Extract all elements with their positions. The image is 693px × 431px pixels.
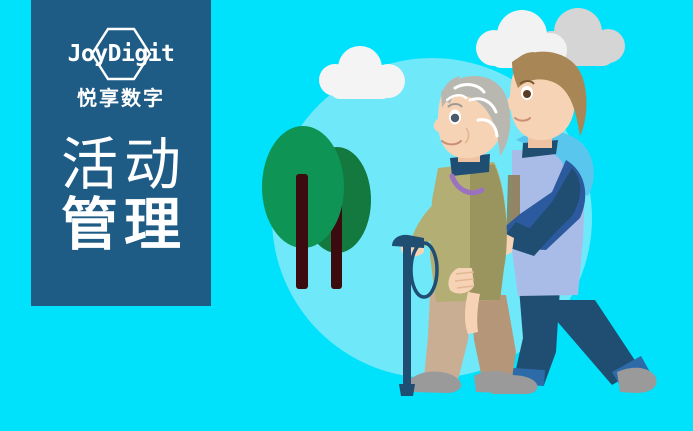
brand-wordmark: JoyDigit [68, 43, 175, 66]
woman-eye-pupil [451, 114, 459, 122]
man-eye-pupil [523, 90, 531, 98]
page-title: 活动 管理 [55, 135, 187, 256]
page-title-line-1: 活动 [55, 135, 187, 195]
poster-root: JoyDigit 悦享数字 活动 管理 [0, 0, 693, 431]
cane-tip [399, 384, 415, 396]
brand-name-cn: 悦享数字 [77, 89, 165, 109]
page-title-line-2: 管理 [55, 195, 187, 255]
brand-logo: JoyDigit [51, 26, 191, 82]
info-panel: JoyDigit 悦享数字 活动 管理 [31, 0, 211, 306]
